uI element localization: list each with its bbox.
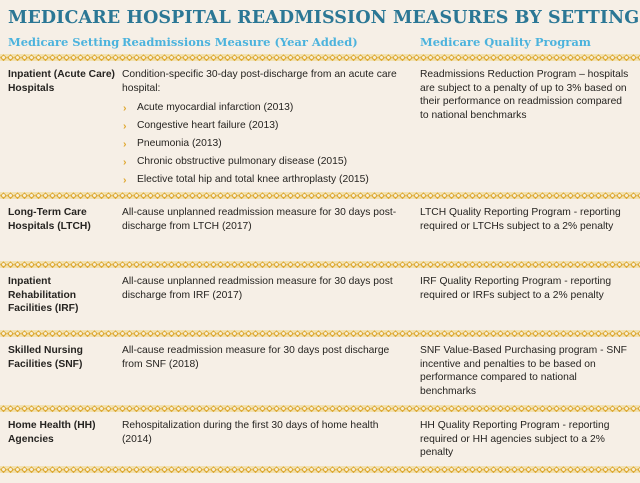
cell-setting: Inpatient Rehabilitation Facilities (IRF… [8, 275, 122, 324]
cell-program: IRF Quality Reporting Program - reportin… [420, 275, 640, 324]
chevron-right-icon: › [123, 156, 127, 169]
footer-spacer [0, 473, 640, 483]
list-item: ›Pneumonia (2013) [122, 138, 410, 150]
title-block: MEDICARE HOSPITAL READMISSION MEASURES B… [0, 0, 640, 27]
cell-measure: All-cause unplanned readmission measure … [122, 275, 420, 324]
chevron-right-icon: › [123, 174, 127, 187]
list-item-label: Elective total hip and total knee arthro… [137, 174, 369, 185]
chevron-right-icon: › [123, 138, 127, 151]
list-item-label: Chronic obstructive pulmonary disease (2… [137, 156, 347, 167]
table-row: Home Health (HH) Agencies Rehospitalizat… [0, 412, 640, 466]
divider-band [0, 330, 640, 337]
cell-program: HH Quality Reporting Program - reporting… [420, 419, 640, 460]
cell-measure: All-cause readmission measure for 30 day… [122, 344, 420, 399]
divider-band-top [0, 54, 640, 61]
table-row: Skilled Nursing Facilities (SNF) All-cau… [0, 337, 640, 405]
measure-bullet-list: ›Acute myocardial infarction (2013) ›Con… [122, 102, 410, 186]
chevron-right-icon: › [123, 120, 127, 133]
cell-measure: Rehospitalization during the first 30 da… [122, 419, 420, 460]
column-header-medicare-setting: Medicare Setting [8, 36, 122, 49]
list-item-label: Congestive heart failure (2013) [137, 120, 278, 131]
cell-measure-text: Condition-specific 30-day post-discharge… [122, 68, 410, 95]
table-row: Long-Term Care Hospitals (LTCH) All-caus… [0, 199, 640, 261]
cell-measure: Condition-specific 30-day post-discharge… [122, 68, 420, 186]
column-header-row: Medicare Setting Readmissions Measure (Y… [0, 27, 640, 54]
cell-setting: Skilled Nursing Facilities (SNF) [8, 344, 122, 399]
divider-band [0, 192, 640, 199]
list-item-label: Acute myocardial infarction (2013) [137, 102, 293, 113]
chevron-right-icon: › [123, 102, 127, 115]
list-item-label: Pneumonia (2013) [137, 138, 222, 149]
cell-program: Readmissions Reduction Program – hospita… [420, 68, 640, 186]
cell-setting: Inpatient (Acute Care) Hospitals [8, 68, 122, 186]
medicare-readmission-table: MEDICARE HOSPITAL READMISSION MEASURES B… [0, 0, 640, 480]
cell-setting: Long-Term Care Hospitals (LTCH) [8, 206, 122, 255]
table-row: Inpatient (Acute Care) Hospitals Conditi… [0, 61, 640, 192]
list-item: ›Elective total hip and total knee arthr… [122, 174, 410, 186]
column-header-medicare-quality-program: Medicare Quality Program [420, 36, 640, 49]
list-item: ›Chronic obstructive pulmonary disease (… [122, 156, 410, 168]
divider-band-bottom [0, 466, 640, 473]
table-row: Inpatient Rehabilitation Facilities (IRF… [0, 268, 640, 330]
column-header-readmissions-measure: Readmissions Measure (Year Added) [122, 36, 420, 49]
cell-program: SNF Value-Based Purchasing program - SNF… [420, 344, 640, 399]
divider-band [0, 261, 640, 268]
list-item: ›Congestive heart failure (2013) [122, 120, 410, 132]
list-item: ›Acute myocardial infarction (2013) [122, 102, 410, 114]
page-title: MEDICARE HOSPITAL READMISSION MEASURES B… [8, 9, 630, 27]
cell-setting: Home Health (HH) Agencies [8, 419, 122, 460]
cell-program: LTCH Quality Reporting Program - reporti… [420, 206, 640, 255]
cell-measure: All-cause unplanned readmission measure … [122, 206, 420, 255]
divider-band [0, 405, 640, 412]
